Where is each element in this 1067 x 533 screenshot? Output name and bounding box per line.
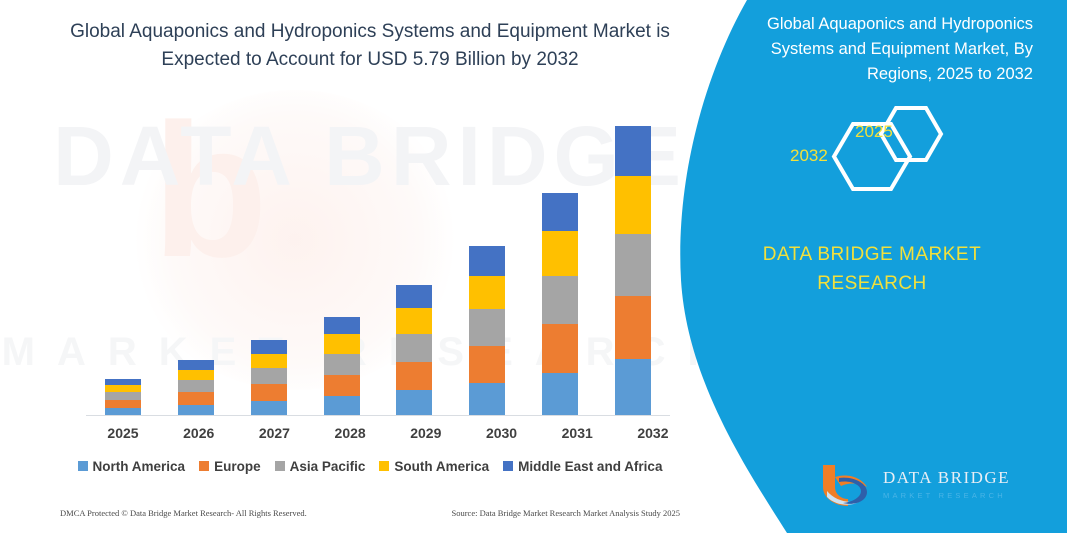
- bar-column-2030[interactable]: [452, 100, 522, 416]
- bar-segment-north-america[interactable]: [324, 396, 360, 416]
- legend-item-europe[interactable]: Europe: [199, 459, 261, 474]
- infographic-canvas: b DATA BRIDGE MARKET RESEARCH Global Aqu…: [0, 0, 1067, 533]
- bar-segment-north-america[interactable]: [615, 359, 651, 416]
- x-axis-label-2027: 2027: [239, 425, 309, 441]
- legend-swatch-icon: [503, 461, 513, 471]
- x-axis-labels: 20252026202720282029203020312032: [88, 422, 688, 444]
- legend-swatch-icon: [78, 461, 88, 471]
- bar-segment-europe[interactable]: [105, 400, 141, 408]
- bar-segment-asia-pacific[interactable]: [615, 234, 651, 296]
- bar-segment-south-america[interactable]: [178, 370, 214, 381]
- bar-segment-south-america[interactable]: [105, 385, 141, 392]
- logo-subtitle: MARKET RESEARCH: [883, 491, 1010, 500]
- bar-column-2032[interactable]: [598, 100, 668, 416]
- legend-item-south-america[interactable]: South America: [379, 459, 489, 474]
- bar-column-2029[interactable]: [379, 100, 449, 416]
- footer-copyright: DMCA Protected © Data Bridge Market Rese…: [60, 508, 307, 518]
- bar-chart: [78, 100, 678, 416]
- hex-label-2025: 2025: [855, 122, 893, 142]
- x-axis-label-2030: 2030: [467, 425, 537, 441]
- bar-segment-asia-pacific[interactable]: [105, 392, 141, 400]
- legend-swatch-icon: [275, 461, 285, 471]
- bar-segment-europe[interactable]: [178, 392, 214, 405]
- bar-segment-north-america[interactable]: [542, 373, 578, 416]
- hex-label-2032: 2032: [790, 146, 828, 166]
- bar-stack[interactable]: [324, 317, 360, 416]
- bar-segment-asia-pacific[interactable]: [396, 334, 432, 362]
- bar-segment-europe[interactable]: [251, 384, 287, 401]
- x-axis-label-2031: 2031: [542, 425, 612, 441]
- legend-item-asia-pacific[interactable]: Asia Pacific: [275, 459, 366, 474]
- bar-segment-south-america[interactable]: [324, 334, 360, 354]
- bar-segment-europe[interactable]: [615, 296, 651, 359]
- bar-segment-europe[interactable]: [469, 346, 505, 383]
- hexagon-badges: 2032 2025: [677, 104, 1067, 209]
- bar-stack[interactable]: [178, 360, 214, 416]
- x-axis-line: [86, 415, 670, 416]
- bar-stack[interactable]: [396, 285, 432, 416]
- bar-segment-asia-pacific[interactable]: [178, 380, 214, 392]
- x-axis-label-2029: 2029: [391, 425, 461, 441]
- bar-segment-asia-pacific[interactable]: [542, 276, 578, 324]
- bar-segment-north-america[interactable]: [396, 390, 432, 416]
- legend-label: North America: [93, 459, 186, 474]
- hexagon-outlines: [677, 104, 1067, 209]
- bar-segment-middle-east-and-africa[interactable]: [396, 285, 432, 308]
- bar-column-2031[interactable]: [525, 100, 595, 416]
- x-axis-label-2026: 2026: [164, 425, 234, 441]
- bar-segment-north-america[interactable]: [469, 383, 505, 416]
- bar-segment-south-america[interactable]: [469, 276, 505, 310]
- legend-item-middle-east-and-africa[interactable]: Middle East and Africa: [503, 459, 662, 474]
- footer-source: Source: Data Bridge Market Research Mark…: [451, 508, 680, 518]
- chart-plot-area: [88, 100, 668, 416]
- bar-stack[interactable]: [542, 193, 578, 416]
- bar-stack[interactable]: [105, 379, 141, 416]
- bar-segment-europe[interactable]: [396, 362, 432, 391]
- brand-logo: DATA BRIDGE MARKET RESEARCH: [817, 458, 1047, 510]
- bar-segment-europe[interactable]: [542, 324, 578, 373]
- data-bridge-logo-icon: [817, 461, 873, 507]
- chart-legend: North AmericaEuropeAsia PacificSouth Ame…: [60, 456, 680, 476]
- bar-segment-asia-pacific[interactable]: [251, 368, 287, 384]
- bar-segment-middle-east-and-africa[interactable]: [542, 193, 578, 231]
- bar-stack[interactable]: [615, 126, 651, 416]
- brand-panel: Global Aquaponics and Hydroponics System…: [677, 0, 1067, 533]
- legend-label: Asia Pacific: [290, 459, 366, 474]
- bar-segment-south-america[interactable]: [396, 308, 432, 334]
- legend-swatch-icon: [199, 461, 209, 471]
- bar-segment-south-america[interactable]: [615, 176, 651, 234]
- bar-segment-south-america[interactable]: [251, 354, 287, 369]
- bar-segment-south-america[interactable]: [542, 231, 578, 276]
- x-axis-label-2028: 2028: [315, 425, 385, 441]
- bar-segment-asia-pacific[interactable]: [324, 354, 360, 375]
- bar-segment-europe[interactable]: [324, 375, 360, 396]
- bar-segment-middle-east-and-africa[interactable]: [324, 317, 360, 334]
- x-axis-label-2025: 2025: [88, 425, 158, 441]
- chart-title: Global Aquaponics and Hydroponics System…: [60, 18, 680, 74]
- panel-title: Global Aquaponics and Hydroponics System…: [703, 12, 1033, 87]
- logo-name: DATA BRIDGE: [883, 468, 1010, 488]
- bar-segment-middle-east-and-africa[interactable]: [469, 246, 505, 275]
- footer: DMCA Protected © Data Bridge Market Rese…: [60, 508, 680, 518]
- logo-text: DATA BRIDGE MARKET RESEARCH: [883, 468, 1010, 500]
- bar-column-2026[interactable]: [161, 100, 231, 416]
- bar-stack[interactable]: [469, 246, 505, 416]
- bar-segment-middle-east-and-africa[interactable]: [251, 340, 287, 353]
- legend-label: Middle East and Africa: [518, 459, 662, 474]
- bar-segment-middle-east-and-africa[interactable]: [178, 360, 214, 370]
- panel-brand-text: DATA BRIDGE MARKET RESEARCH: [722, 240, 1022, 298]
- legend-item-north-america[interactable]: North America: [78, 459, 186, 474]
- legend-label: Europe: [214, 459, 261, 474]
- bar-segment-middle-east-and-africa[interactable]: [615, 126, 651, 176]
- bar-stack[interactable]: [251, 340, 287, 416]
- bar-column-2025[interactable]: [88, 100, 158, 416]
- legend-swatch-icon: [379, 461, 389, 471]
- bar-column-2028[interactable]: [307, 100, 377, 416]
- bar-segment-north-america[interactable]: [251, 401, 287, 416]
- panel-content: Global Aquaponics and Hydroponics System…: [677, 0, 1067, 533]
- legend-label: South America: [394, 459, 489, 474]
- bar-segment-asia-pacific[interactable]: [469, 309, 505, 345]
- bar-column-2027[interactable]: [234, 100, 304, 416]
